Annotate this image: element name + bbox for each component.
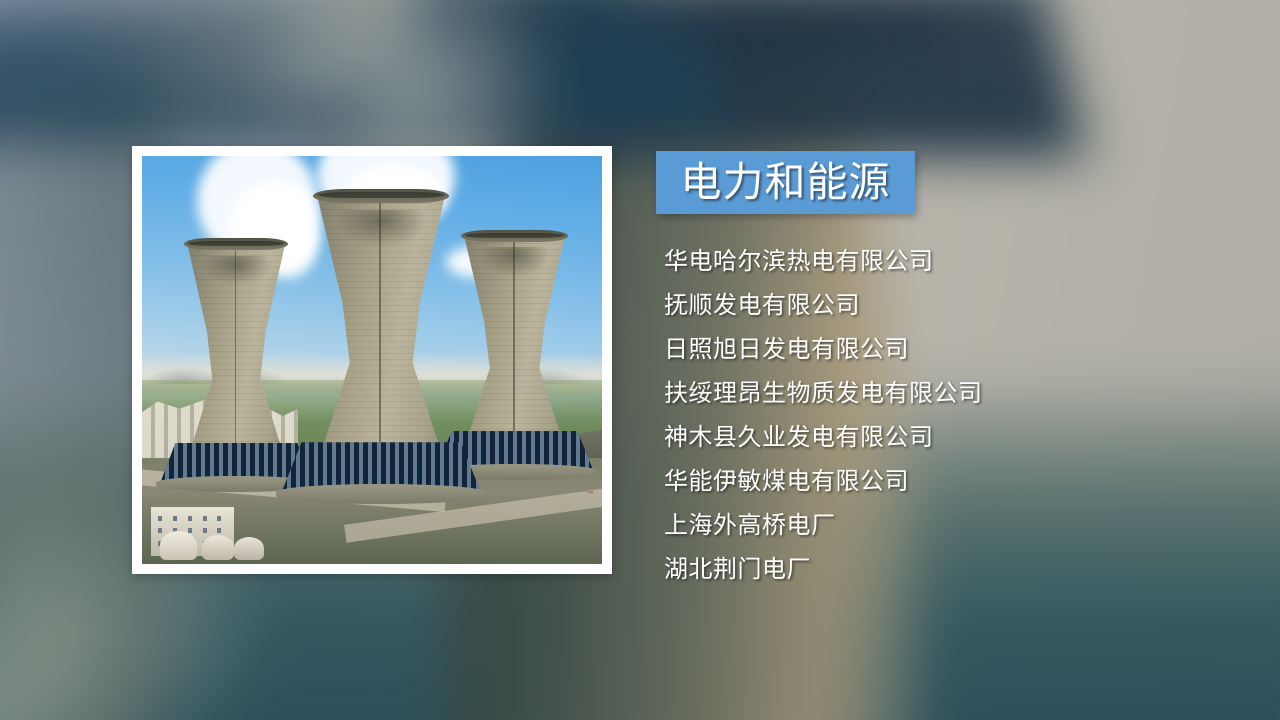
photo-storage-tank-1 — [160, 531, 197, 560]
photo-building-window — [203, 516, 207, 521]
photo-building-window — [188, 516, 192, 521]
company-list: 华电哈尔滨热电有限公司 抚顺发电有限公司 日照旭日发电有限公司 扶绥理昂生物质发… — [664, 240, 1084, 592]
photo-pipework — [455, 491, 593, 556]
photo-building-window — [173, 516, 177, 521]
photo-building-window — [158, 528, 162, 533]
slide-title-banner: 电力和能源 — [656, 151, 915, 214]
photo-frame — [132, 146, 612, 574]
list-item: 扶绥理昂生物质发电有限公司 — [664, 372, 1084, 416]
cooling-tower-right-seam — [513, 238, 515, 443]
page-title: 电力和能源 — [681, 162, 891, 203]
cooling-tower-center-seam — [379, 199, 381, 458]
cooling-tower-left — [170, 242, 303, 479]
list-item: 日照旭日发电有限公司 — [664, 328, 1084, 372]
cooling-tower-right-rim — [461, 230, 569, 242]
cooling-tower-center-soot — [336, 210, 427, 263]
power-plant-cooling-towers-photo — [142, 156, 602, 564]
photo-building-window — [217, 528, 221, 533]
photo-building-window — [203, 528, 207, 533]
photo-storage-tank-2 — [202, 535, 234, 559]
photo-building-window — [158, 516, 162, 521]
list-item: 抚顺发电有限公司 — [664, 284, 1084, 328]
list-item: 上海外高桥电厂 — [664, 504, 1084, 548]
cooling-tower-left-rim — [184, 238, 288, 250]
photo-storage-tank-3 — [234, 537, 264, 559]
photo-building-window — [217, 516, 221, 521]
cooling-tower-center — [294, 193, 469, 487]
cooling-tower-center-rim — [313, 189, 449, 204]
list-item: 华能伊敏煤电有限公司 — [664, 460, 1084, 504]
list-item: 华电哈尔滨热电有限公司 — [664, 240, 1084, 284]
cooling-tower-center-plinth — [276, 484, 486, 505]
list-item: 湖北荆门电厂 — [664, 548, 1084, 592]
list-item: 神木县久业发电有限公司 — [664, 416, 1084, 460]
cooling-tower-left-seam — [235, 246, 237, 454]
